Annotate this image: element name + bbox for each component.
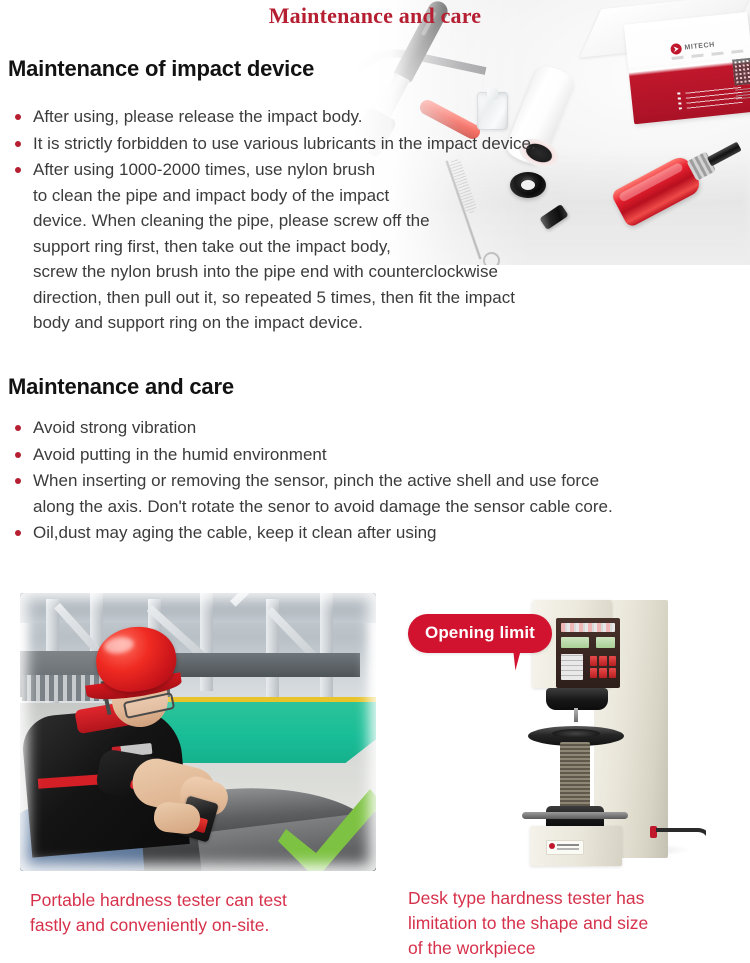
red-screwdriver xyxy=(607,125,750,239)
green-check-icon xyxy=(274,785,376,871)
list-item: Oil,dust may aging the cable, keep it cl… xyxy=(8,520,738,546)
red-button xyxy=(609,656,616,666)
mitech-logo: MITECH xyxy=(670,39,715,55)
impact-device-bullet-list: After using, please release the impact b… xyxy=(8,104,608,337)
bullet-line: Avoid putting in the humid environment xyxy=(33,442,738,468)
screwdriver-handle xyxy=(610,154,703,229)
screwdriver-ferrule xyxy=(686,151,716,181)
box-subtitle-lines xyxy=(671,48,750,60)
caption-line: Portable hardness tester can test xyxy=(30,888,360,913)
bullet-line: screw the nylon brush into the pipe end … xyxy=(33,259,608,285)
mitech-logo-mark-icon xyxy=(670,43,682,55)
indicator-led-row xyxy=(561,623,615,632)
section-heading-maintenance-and-care: Maintenance and care xyxy=(8,374,234,400)
caption-desk-tester: Desk type hardness tester has limitation… xyxy=(408,886,738,961)
caption-line: Desk type hardness tester has xyxy=(408,886,738,911)
lcd-display-primary xyxy=(561,637,589,648)
section-heading-impact-device: Maintenance of impact device xyxy=(8,56,314,82)
maintenance-care-bullet-list: Avoid strong vibration Avoid putting in … xyxy=(8,415,738,547)
bullet-line: Avoid strong vibration xyxy=(33,415,738,441)
bullet-line: It is strictly forbidden to use various … xyxy=(33,131,608,157)
power-cable xyxy=(656,828,706,854)
bullet-line: Oil,dust may aging the cable, keep it cl… xyxy=(33,520,738,546)
red-button xyxy=(590,668,597,678)
bullet-line: After using, please release the impact b… xyxy=(33,104,608,130)
keypad-block xyxy=(561,654,583,680)
bullet-line: direction, then pull out it, so repeated… xyxy=(33,285,608,311)
red-button xyxy=(609,668,616,678)
list-item: It is strictly forbidden to use various … xyxy=(8,131,608,157)
page-title: Maintenance and care xyxy=(0,3,750,29)
mitech-logo-text: MITECH xyxy=(684,41,715,51)
elevating-screw xyxy=(560,742,590,812)
callout-tail xyxy=(513,644,526,671)
portable-hardness-tester-onsite-photo xyxy=(20,593,376,871)
opening-limit-callout: Opening limit xyxy=(408,614,552,653)
caption-line: of the workpiece xyxy=(408,936,738,961)
list-item: After using, please release the impact b… xyxy=(8,104,608,130)
opening-limit-label: Opening limit xyxy=(425,623,535,642)
red-button xyxy=(590,656,597,666)
bullet-line: device. When cleaning the pipe, please s… xyxy=(33,208,608,234)
factory-column xyxy=(320,593,333,697)
box-spec-lines xyxy=(685,85,743,109)
indenter-head xyxy=(546,688,608,710)
red-button-grid xyxy=(590,656,616,678)
list-item: When inserting or removing the sensor, p… xyxy=(8,468,738,519)
box-bullet-dots xyxy=(677,91,682,109)
indenter-needle xyxy=(574,708,578,722)
qr-code-icon xyxy=(732,57,750,86)
list-item: After using 1000-2000 times, use nylon b… xyxy=(8,157,608,336)
caption-portable-tester: Portable hardness tester can test fastly… xyxy=(30,888,360,938)
machine-brand-label xyxy=(546,840,584,855)
bullet-line: to clean the pipe and impact body of the… xyxy=(33,183,608,209)
red-button xyxy=(599,668,606,678)
lcd-display-secondary xyxy=(596,637,615,648)
caption-line: fastly and conveniently on-site. xyxy=(30,913,360,938)
control-panel xyxy=(556,618,620,688)
box-address-lines xyxy=(735,86,750,99)
list-item: Avoid strong vibration xyxy=(8,415,738,441)
bullet-line: along the axis. Don't rotate the senor t… xyxy=(33,494,738,520)
screwdriver-shaft xyxy=(707,142,742,167)
worker-hand-lower xyxy=(153,801,202,836)
elevating-handwheel-handle xyxy=(522,812,628,819)
bullet-line: When inserting or removing the sensor, p… xyxy=(33,468,738,494)
caption-line: limitation to the shape and size xyxy=(408,911,738,936)
bullet-line: support ring first, then take out the im… xyxy=(33,234,608,260)
factory-workbench xyxy=(170,653,360,677)
bullet-line: After using 1000-2000 times, use nylon b… xyxy=(33,157,608,183)
bullet-line: body and support ring on the impact devi… xyxy=(33,310,608,336)
list-item: Avoid putting in the humid environment xyxy=(8,442,738,468)
red-button xyxy=(599,656,606,666)
